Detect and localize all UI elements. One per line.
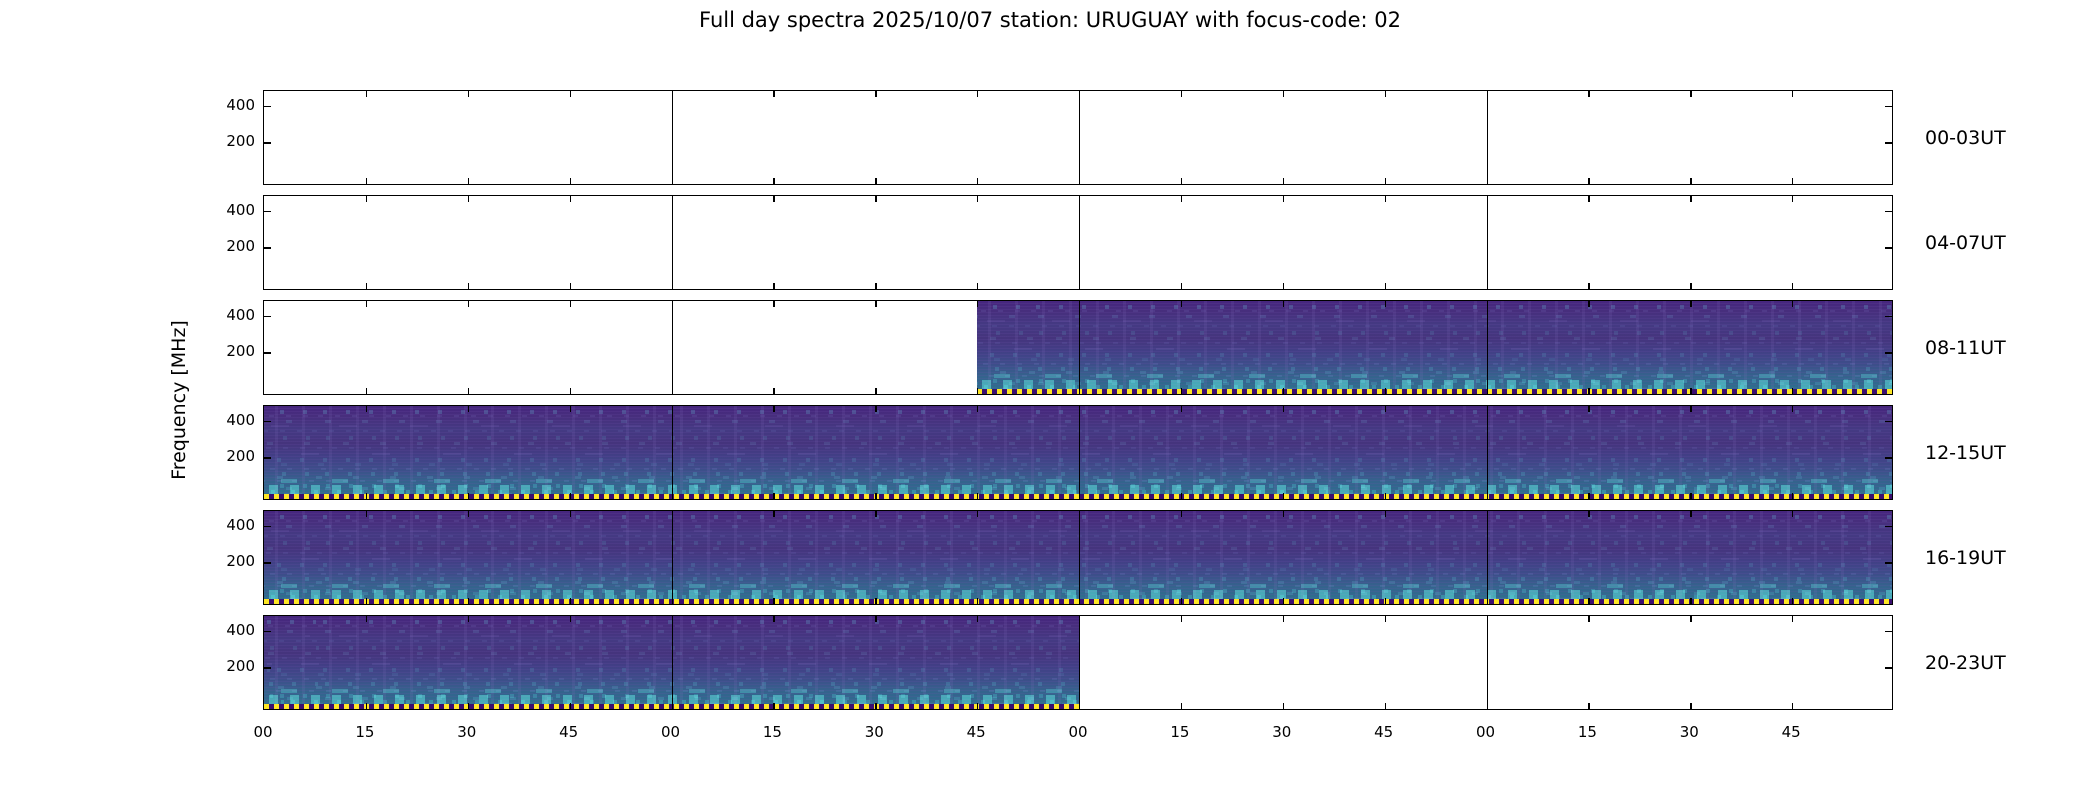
saturated-narrowband-line (977, 389, 1892, 394)
x-tick-mark (1588, 406, 1589, 412)
x-tick-mark (1385, 511, 1386, 517)
x-tick-mark (468, 91, 469, 97)
hour-gridline (1487, 301, 1488, 394)
x-tick-label: 15 (763, 723, 782, 741)
x-tick-mark (366, 703, 367, 709)
y-tick-mark (1885, 211, 1892, 212)
hour-gridline (672, 616, 673, 709)
y-tick-label: 200 (226, 447, 255, 465)
x-tick-mark (773, 283, 774, 289)
y-tick-mark (264, 316, 271, 317)
x-tick-mark (570, 91, 571, 97)
row-label-00-03ut: 00-03UT (1925, 127, 2006, 149)
y-tick-mark (264, 247, 271, 248)
x-tick-mark (366, 406, 367, 412)
x-tick-mark (875, 511, 876, 517)
spectrogram-panel[interactable] (263, 615, 1893, 710)
low-frequency-bright-band (264, 590, 1892, 599)
x-tick-mark (977, 196, 978, 202)
x-tick-mark (1181, 406, 1182, 412)
hour-gridline (1487, 511, 1488, 604)
x-tick-mark (570, 406, 571, 412)
panel-plot-area (264, 91, 1892, 184)
x-tick-mark (1283, 178, 1284, 184)
x-tick-mark (366, 301, 367, 307)
x-tick-mark (1588, 283, 1589, 289)
x-tick-mark (773, 511, 774, 517)
y-tick-mark (264, 421, 271, 422)
low-frequency-bright-band (264, 584, 1892, 588)
x-tick-mark (570, 493, 571, 499)
low-frequency-bright-band (264, 485, 1892, 494)
x-tick-mark (1690, 388, 1691, 394)
x-tick-mark (366, 616, 367, 622)
hour-gridline (672, 406, 673, 499)
low-frequency-bright-band (977, 374, 1892, 378)
x-tick-mark (1385, 301, 1386, 307)
hour-gridline (1487, 196, 1488, 289)
x-tick-mark (1690, 196, 1691, 202)
row-label-20-23ut: 20-23UT (1925, 652, 2006, 674)
x-tick-mark (773, 91, 774, 97)
x-tick-mark (468, 598, 469, 604)
x-tick-mark (1588, 178, 1589, 184)
x-tick-mark (1181, 91, 1182, 97)
y-tick-label: 200 (226, 552, 255, 570)
x-tick-mark (1385, 493, 1386, 499)
x-tick-mark (977, 493, 978, 499)
x-tick-mark (1588, 301, 1589, 307)
x-tick-mark (1690, 301, 1691, 307)
spectrogram-panel[interactable] (263, 300, 1893, 395)
hour-gridline (1079, 196, 1080, 289)
x-tick-mark (977, 511, 978, 517)
y-tick-mark (264, 562, 271, 563)
x-tick-label: 30 (457, 723, 476, 741)
x-tick-mark (1181, 283, 1182, 289)
x-tick-mark (1283, 388, 1284, 394)
x-tick-mark (875, 406, 876, 412)
x-tick-mark (468, 511, 469, 517)
x-tick-mark (1588, 616, 1589, 622)
x-tick-mark (1792, 406, 1793, 412)
spectrogram-panel[interactable] (263, 90, 1893, 185)
x-tick-mark (1792, 196, 1793, 202)
x-tick-mark (875, 196, 876, 202)
x-tick-mark (773, 388, 774, 394)
x-tick-mark (1792, 616, 1793, 622)
x-tick-mark (875, 493, 876, 499)
x-tick-mark (977, 283, 978, 289)
hour-gridline (1487, 616, 1488, 709)
x-tick-mark (366, 493, 367, 499)
x-tick-mark (570, 616, 571, 622)
x-tick-label: 15 (355, 723, 374, 741)
row-label-12-15ut: 12-15UT (1925, 442, 2006, 464)
x-tick-label: 45 (1782, 723, 1801, 741)
x-tick-mark (1588, 511, 1589, 517)
low-frequency-bright-band (264, 479, 1892, 483)
x-tick-mark (773, 406, 774, 412)
x-tick-mark (1385, 598, 1386, 604)
x-tick-mark (1690, 616, 1691, 622)
x-tick-mark (366, 511, 367, 517)
x-tick-mark (1181, 388, 1182, 394)
saturated-narrowband-line (264, 494, 1892, 499)
x-tick-mark (1690, 493, 1691, 499)
hour-gridline (672, 91, 673, 184)
x-tick-mark (1283, 598, 1284, 604)
x-tick-label: 30 (1680, 723, 1699, 741)
x-tick-mark (1690, 178, 1691, 184)
x-tick-mark (977, 388, 978, 394)
x-tick-mark (1588, 493, 1589, 499)
hour-gridline (672, 301, 673, 394)
spectrogram-panel[interactable] (263, 195, 1893, 290)
x-tick-mark (1181, 493, 1182, 499)
x-tick-mark (773, 616, 774, 622)
x-tick-mark (1181, 178, 1182, 184)
x-tick-mark (366, 91, 367, 97)
y-tick-mark (264, 142, 271, 143)
x-tick-mark (1385, 703, 1386, 709)
spectrogram-figure: Full day spectra 2025/10/07 station: URU… (0, 0, 2100, 800)
x-tick-mark (1792, 178, 1793, 184)
x-tick-mark (570, 598, 571, 604)
x-tick-mark (570, 196, 571, 202)
x-tick-mark (875, 301, 876, 307)
y-tick-mark (264, 631, 271, 632)
spectrogram-panel[interactable] (263, 405, 1893, 500)
x-tick-mark (773, 196, 774, 202)
x-tick-mark (1690, 91, 1691, 97)
y-axis-label: Frequency [MHz] (168, 210, 190, 590)
panel-plot-area (264, 196, 1892, 289)
x-tick-mark (1283, 91, 1284, 97)
x-tick-mark (1283, 196, 1284, 202)
x-tick-mark (468, 493, 469, 499)
x-tick-mark (977, 178, 978, 184)
x-tick-label: 15 (1578, 723, 1597, 741)
y-tick-mark (1885, 526, 1892, 527)
x-tick-mark (977, 406, 978, 412)
x-tick-mark (977, 703, 978, 709)
y-tick-label: 200 (226, 132, 255, 150)
x-tick-mark (570, 703, 571, 709)
y-tick-mark (1885, 562, 1892, 563)
saturated-narrowband-line (264, 599, 1892, 604)
y-tick-mark (1885, 667, 1892, 668)
figure-title: Full day spectra 2025/10/07 station: URU… (0, 8, 2100, 32)
x-tick-label: 00 (661, 723, 680, 741)
hour-gridline (672, 196, 673, 289)
x-tick-mark (1283, 703, 1284, 709)
y-tick-label: 400 (226, 201, 255, 219)
y-tick-label: 400 (226, 306, 255, 324)
spectrogram-data-block (264, 511, 1892, 604)
x-tick-mark (1792, 283, 1793, 289)
x-tick-mark (773, 598, 774, 604)
x-tick-mark (773, 493, 774, 499)
x-tick-mark (1690, 703, 1691, 709)
x-tick-mark (977, 616, 978, 622)
y-tick-mark (1885, 631, 1892, 632)
x-tick-mark (468, 703, 469, 709)
x-tick-label: 30 (865, 723, 884, 741)
spectrogram-panel[interactable] (263, 510, 1893, 605)
x-tick-mark (1690, 511, 1691, 517)
y-tick-mark (1885, 352, 1892, 353)
low-frequency-bright-band (977, 380, 1892, 389)
hour-gridline (1079, 301, 1080, 394)
y-tick-mark (1885, 457, 1892, 458)
hour-gridline (1487, 406, 1488, 499)
x-tick-mark (1181, 598, 1182, 604)
x-tick-label: 00 (1068, 723, 1087, 741)
x-tick-mark (875, 703, 876, 709)
x-tick-label: 15 (1170, 723, 1189, 741)
x-tick-mark (1792, 91, 1793, 97)
spectrogram-data-block (977, 301, 1892, 394)
x-tick-label: 00 (1476, 723, 1495, 741)
panel-plot-area (264, 511, 1892, 604)
x-tick-mark (1283, 406, 1284, 412)
x-tick-mark (366, 283, 367, 289)
spectrogram-data-block (264, 406, 1892, 499)
x-tick-mark (1690, 283, 1691, 289)
x-tick-label: 45 (1374, 723, 1393, 741)
panel-plot-area (264, 616, 1892, 709)
x-tick-mark (468, 178, 469, 184)
y-tick-label: 200 (226, 237, 255, 255)
hour-gridline (1079, 406, 1080, 499)
x-tick-mark (1181, 511, 1182, 517)
x-tick-mark (1588, 388, 1589, 394)
x-tick-label: 45 (559, 723, 578, 741)
x-tick-mark (1385, 406, 1386, 412)
x-tick-mark (468, 406, 469, 412)
y-tick-mark (264, 667, 271, 668)
x-tick-mark (570, 388, 571, 394)
row-label-16-19ut: 16-19UT (1925, 547, 2006, 569)
y-tick-mark (264, 211, 271, 212)
x-tick-mark (570, 511, 571, 517)
y-tick-label: 400 (226, 411, 255, 429)
x-tick-mark (468, 388, 469, 394)
x-tick-mark (1283, 301, 1284, 307)
x-tick-mark (977, 301, 978, 307)
x-tick-mark (1181, 703, 1182, 709)
x-tick-mark (1588, 703, 1589, 709)
x-tick-mark (875, 388, 876, 394)
x-tick-mark (1385, 388, 1386, 394)
x-tick-label: 30 (1272, 723, 1291, 741)
hour-gridline (1079, 91, 1080, 184)
x-tick-mark (1385, 616, 1386, 622)
x-tick-mark (1283, 616, 1284, 622)
x-tick-mark (1792, 598, 1793, 604)
x-tick-mark (366, 388, 367, 394)
x-tick-mark (875, 283, 876, 289)
row-label-08-11ut: 08-11UT (1925, 337, 2006, 359)
x-tick-mark (1181, 301, 1182, 307)
y-tick-label: 400 (226, 96, 255, 114)
y-tick-mark (1885, 247, 1892, 248)
y-tick-mark (1885, 316, 1892, 317)
x-tick-mark (1792, 388, 1793, 394)
x-tick-mark (468, 283, 469, 289)
x-tick-mark (875, 178, 876, 184)
x-tick-mark (773, 301, 774, 307)
y-tick-label: 200 (226, 342, 255, 360)
x-tick-mark (468, 616, 469, 622)
row-label-04-07ut: 04-07UT (1925, 232, 2006, 254)
x-tick-mark (977, 91, 978, 97)
x-tick-mark (1588, 91, 1589, 97)
x-tick-mark (875, 91, 876, 97)
x-tick-mark (366, 196, 367, 202)
x-tick-mark (1283, 283, 1284, 289)
x-tick-mark (1690, 406, 1691, 412)
hour-gridline (1079, 616, 1080, 709)
x-tick-mark (468, 301, 469, 307)
x-tick-mark (1588, 598, 1589, 604)
x-tick-mark (1588, 196, 1589, 202)
hour-gridline (1079, 511, 1080, 604)
y-tick-mark (1885, 142, 1892, 143)
y-tick-mark (264, 106, 271, 107)
x-tick-mark (773, 703, 774, 709)
x-tick-mark (468, 196, 469, 202)
y-tick-label: 400 (226, 621, 255, 639)
x-tick-mark (1385, 196, 1386, 202)
y-tick-mark (1885, 421, 1892, 422)
x-tick-mark (570, 283, 571, 289)
x-tick-mark (366, 598, 367, 604)
y-tick-label: 400 (226, 516, 255, 534)
x-tick-mark (1385, 91, 1386, 97)
x-tick-mark (1181, 616, 1182, 622)
panel-plot-area (264, 301, 1892, 394)
x-tick-mark (366, 178, 367, 184)
x-tick-mark (977, 598, 978, 604)
x-tick-mark (1283, 511, 1284, 517)
x-tick-mark (1792, 511, 1793, 517)
x-tick-mark (1385, 283, 1386, 289)
y-tick-label: 200 (226, 657, 255, 675)
x-tick-mark (1792, 703, 1793, 709)
x-tick-label: 45 (967, 723, 986, 741)
x-tick-mark (1283, 493, 1284, 499)
x-tick-mark (1690, 598, 1691, 604)
x-tick-mark (1792, 493, 1793, 499)
hour-gridline (672, 511, 673, 604)
x-tick-mark (570, 301, 571, 307)
y-tick-mark (264, 526, 271, 527)
y-tick-mark (264, 352, 271, 353)
panel-plot-area (264, 406, 1892, 499)
x-tick-mark (1181, 196, 1182, 202)
x-tick-mark (875, 616, 876, 622)
y-tick-mark (1885, 106, 1892, 107)
x-tick-label: 00 (253, 723, 272, 741)
x-tick-mark (570, 178, 571, 184)
x-tick-mark (1792, 301, 1793, 307)
x-tick-mark (875, 598, 876, 604)
hour-gridline (1487, 91, 1488, 184)
x-tick-mark (773, 178, 774, 184)
x-tick-mark (1385, 178, 1386, 184)
y-tick-mark (264, 457, 271, 458)
